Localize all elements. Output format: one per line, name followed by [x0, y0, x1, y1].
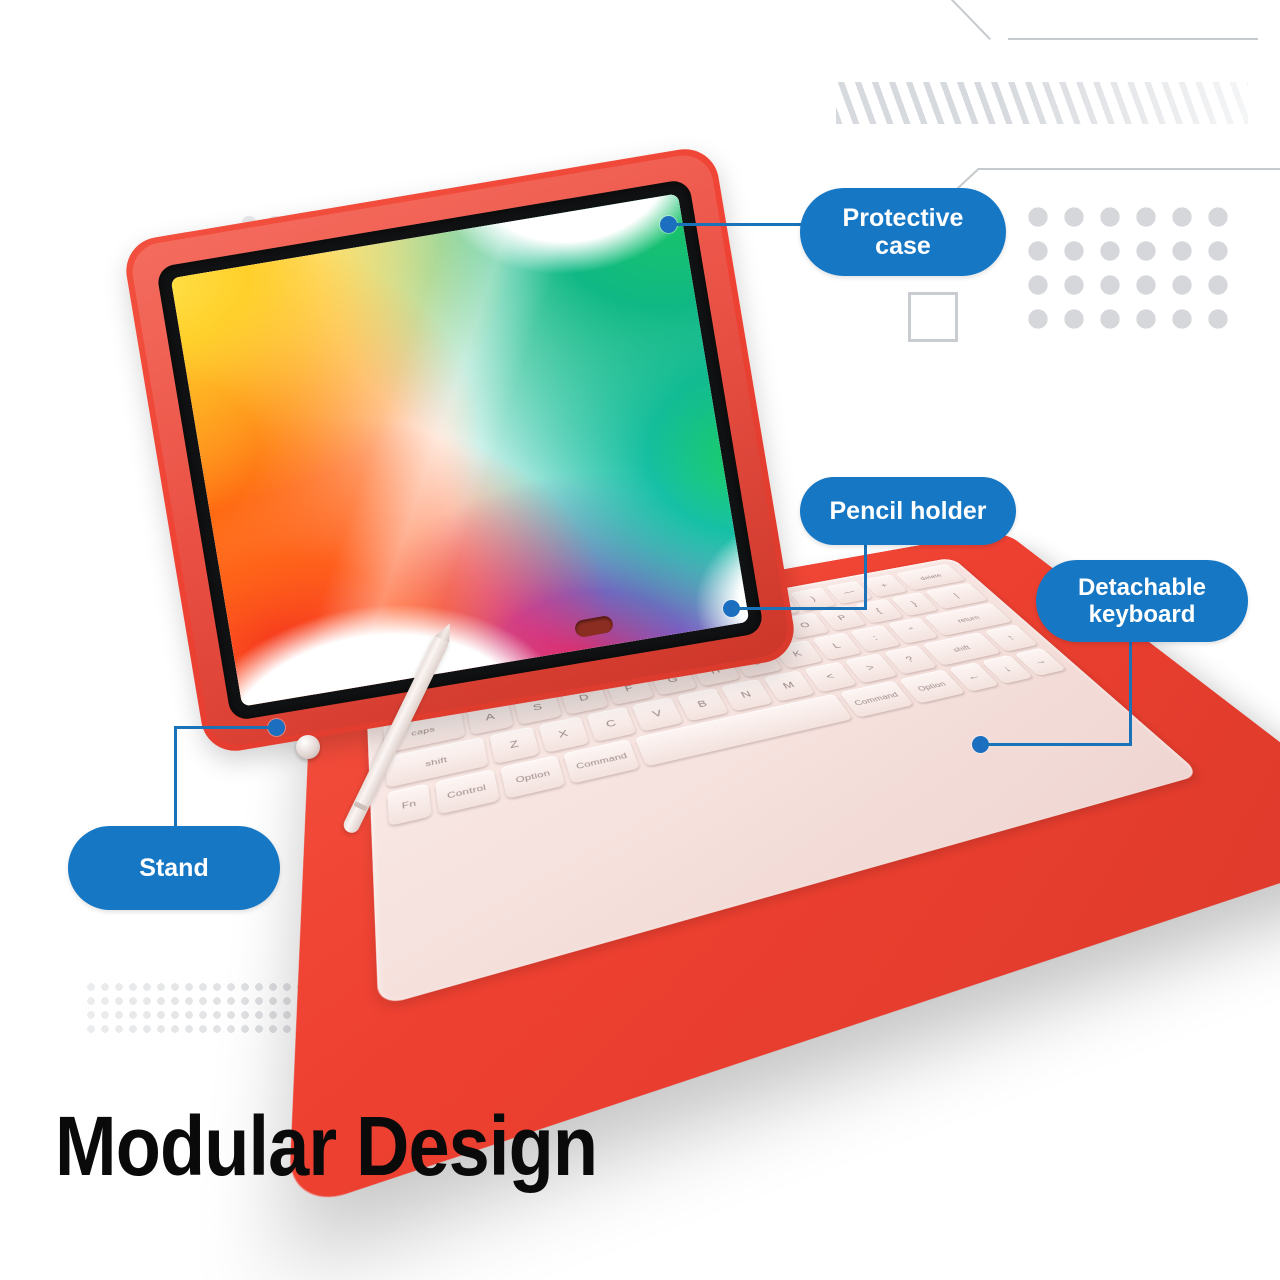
callout-detachable-keyboard-line2: keyboard [1089, 601, 1196, 628]
tablet-screen [171, 194, 750, 707]
callout-pencil-holder-label: Pencil holder [830, 497, 987, 526]
callout-line-keyboard-vertical [1129, 638, 1132, 746]
callout-line-pencil-holder-horizontal [733, 607, 867, 610]
key: Control [435, 769, 500, 815]
key: V [632, 697, 684, 731]
infographic-canvas: esc !@ #$ %^ &* () —+ delete tab QW ER T… [0, 0, 1280, 1280]
callout-line-stand-vertical [174, 726, 177, 836]
key: B [677, 688, 729, 721]
callout-protective-case-line2: case [875, 232, 931, 260]
callout-protective-case-line1: Protective [843, 204, 964, 232]
callout-stand-label: Stand [139, 854, 208, 883]
key: Command [839, 680, 914, 717]
key: N [720, 679, 772, 712]
key: Z [490, 726, 540, 764]
callout-line-protective-case [670, 223, 810, 226]
callout-line-stand-horizontal [174, 726, 274, 729]
product-illustration: esc !@ #$ %^ &* () —+ delete tab QW ER T… [120, 170, 1150, 1100]
key: Fn [387, 784, 431, 826]
callout-detachable-keyboard[interactable]: Detachable keyboard [1036, 560, 1248, 642]
callout-line-keyboard-horizontal [982, 743, 1132, 746]
callout-protective-case[interactable]: Protective case [800, 188, 1006, 276]
page-title: Modular Design [55, 1098, 597, 1195]
callout-line-pencil-holder-vertical [864, 545, 867, 609]
key: C [586, 707, 637, 742]
corner-line-top [1008, 38, 1258, 40]
stand-hinge-knob [296, 735, 320, 759]
wallpaper-highlight-band [171, 194, 750, 707]
key: Option [500, 755, 566, 799]
corner-line-top-diagonal [945, 0, 991, 40]
callout-detachable-keyboard-line1: Detachable [1078, 574, 1206, 601]
hatch-stripes-top-right [836, 82, 1248, 124]
callout-stand[interactable]: Stand [68, 826, 280, 910]
callout-pencil-holder[interactable]: Pencil holder [800, 477, 1016, 545]
tablet-in-case-graphic [121, 144, 799, 756]
key: X [538, 716, 589, 752]
tablet-bezel [156, 179, 765, 722]
